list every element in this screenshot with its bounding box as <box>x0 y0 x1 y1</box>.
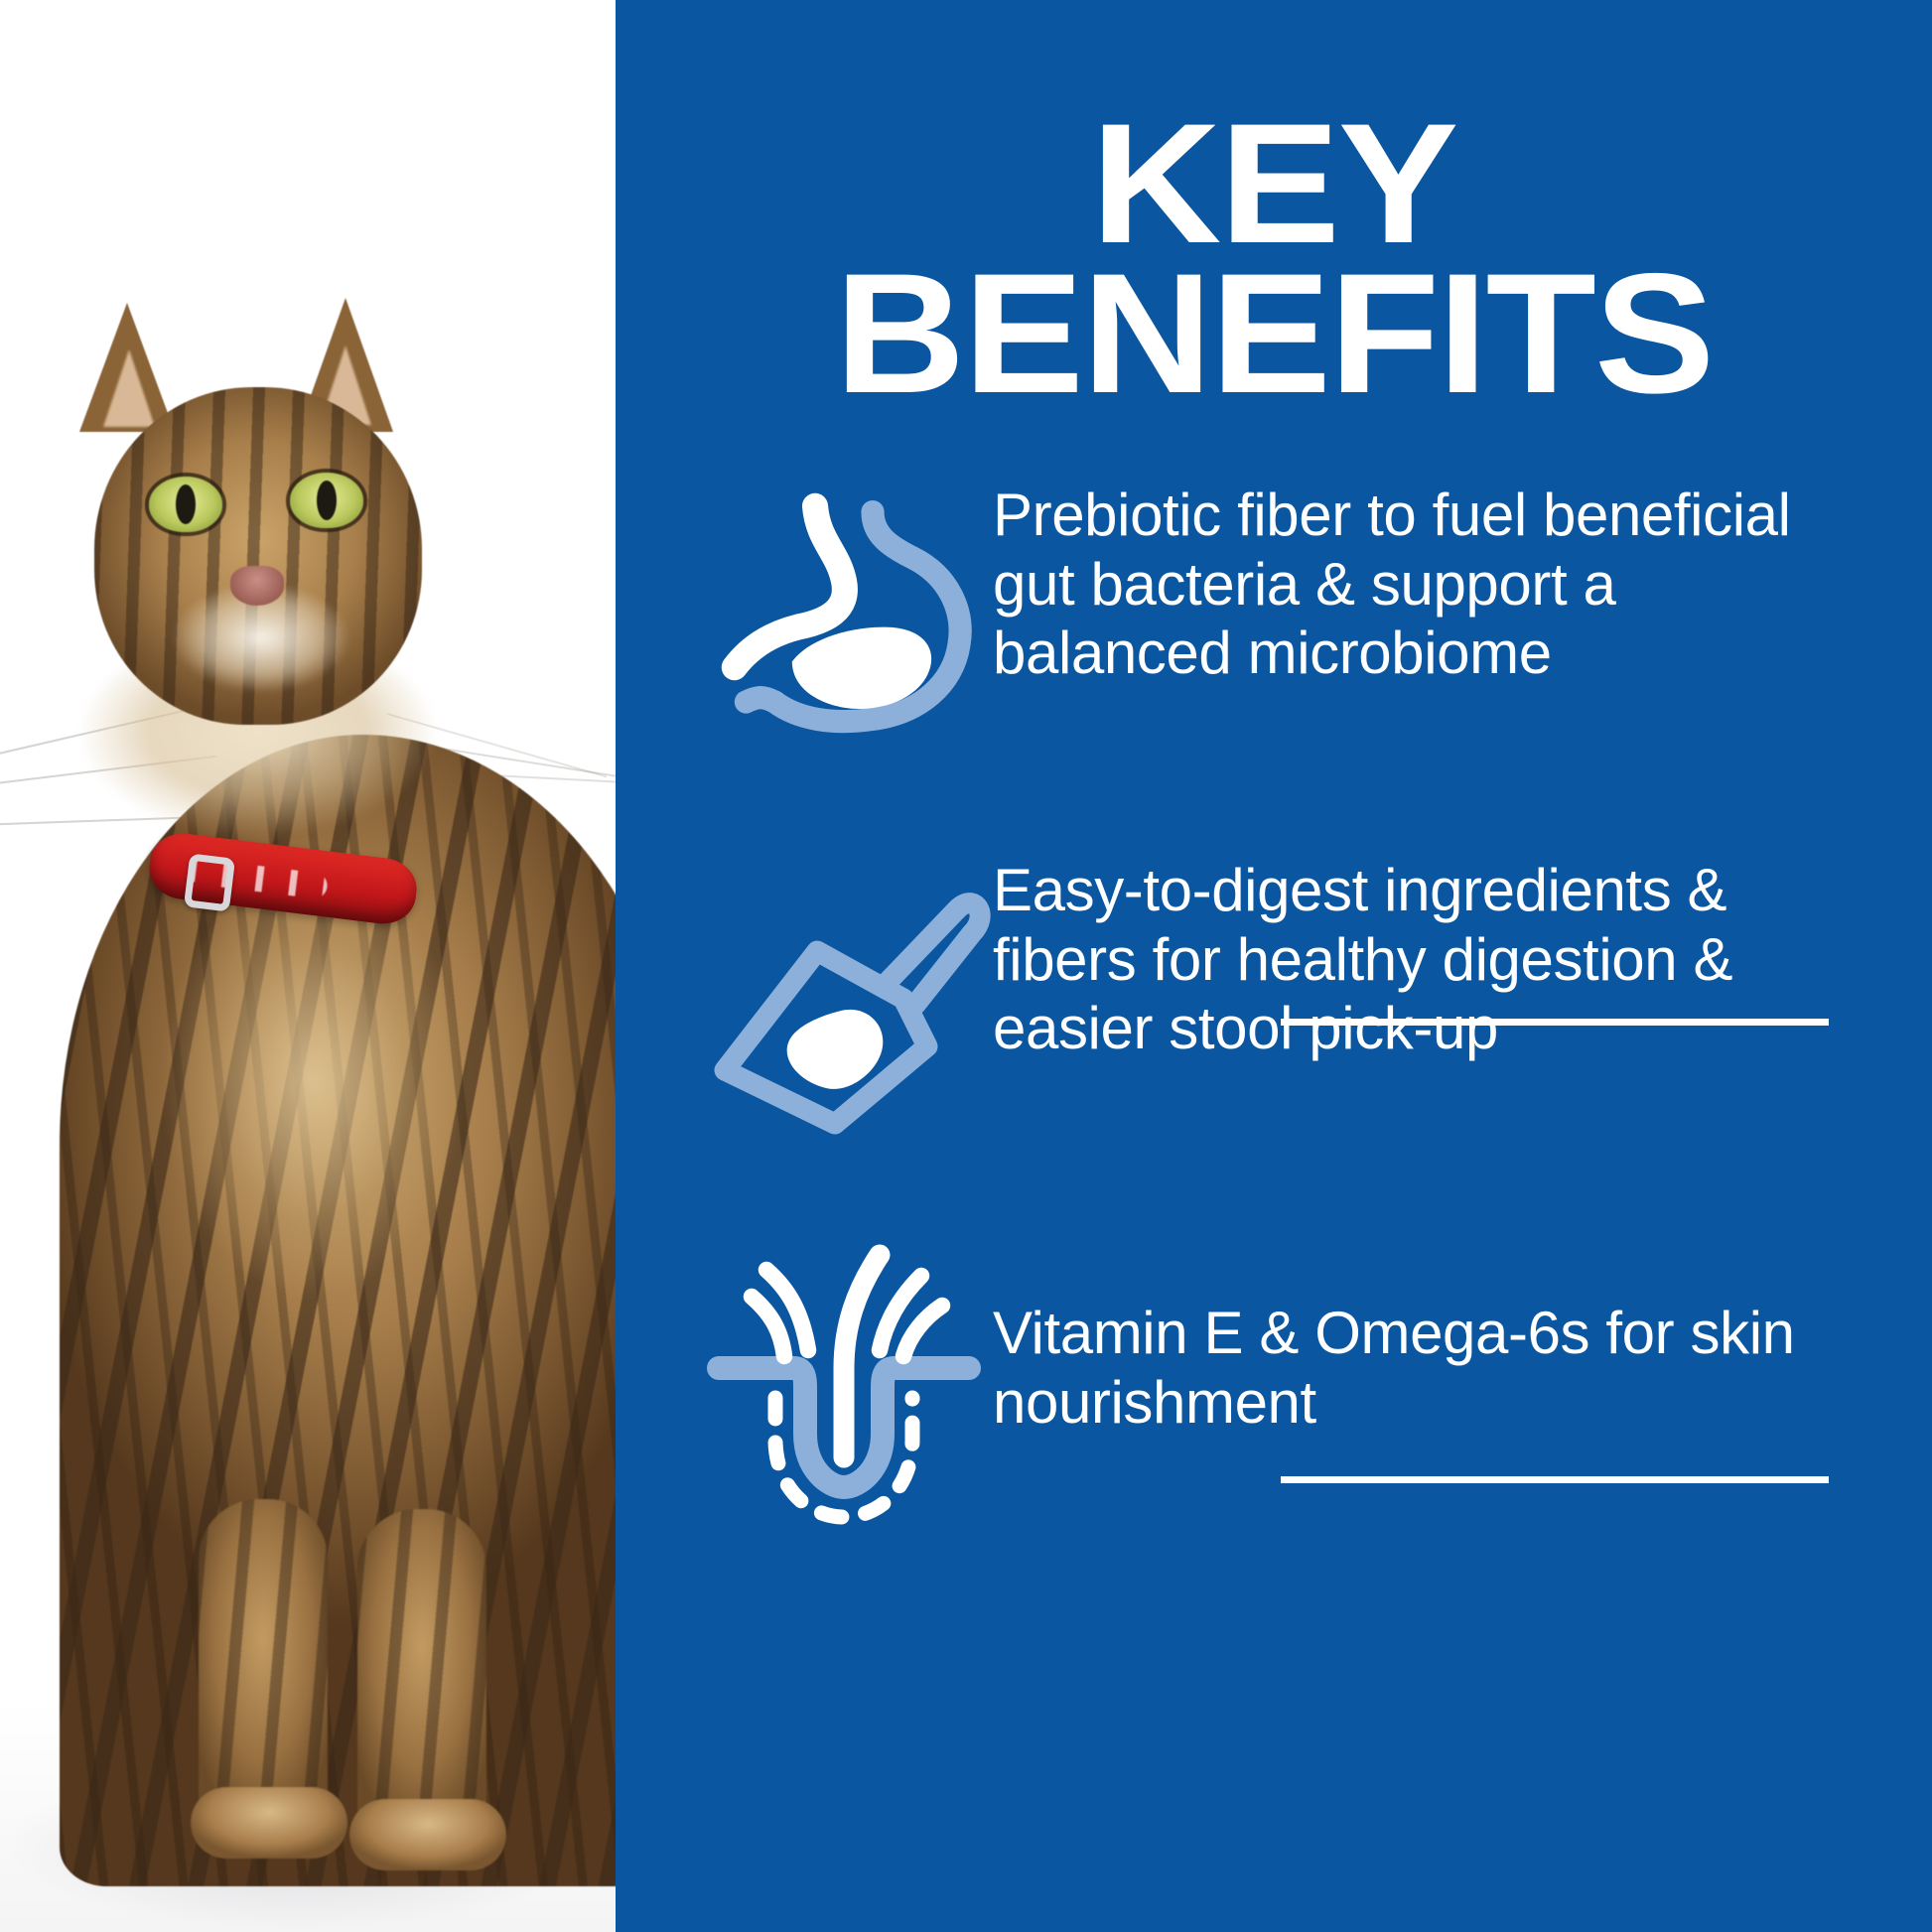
cat-ear-inner-left <box>103 349 155 427</box>
litter-scoop-icon <box>695 850 993 1148</box>
benefit-item-2: Easy-to-digest ingredients & fibers for … <box>616 850 1932 1148</box>
benefit-item-1: Prebiotic fiber to fuel beneficial gut b… <box>616 467 1932 764</box>
cat-nose <box>230 566 284 606</box>
stomach-icon <box>695 467 993 764</box>
key-benefits-banner: KEY BENEFITS Prebiotic fiber <box>0 0 1932 1932</box>
page-title-line-2: BENEFITS <box>576 259 1932 409</box>
cat-photo-panel <box>0 0 616 1932</box>
divider-1 <box>1281 1019 1829 1026</box>
cat-pupil <box>317 481 337 520</box>
cat-paw-right <box>349 1799 506 1870</box>
divider-2 <box>1281 1476 1829 1483</box>
cat-eye-right <box>290 473 363 528</box>
benefit-item-3: Vitamin E & Omega-6s for skin nourishmen… <box>616 1243 1932 1541</box>
benefit-text-2: Easy-to-digest ingredients & fibers for … <box>993 850 1838 1063</box>
benefits-panel: KEY BENEFITS Prebiotic fiber <box>616 0 1932 1932</box>
hair-follicle-icon <box>695 1243 993 1541</box>
cat-collar-buckle <box>184 853 235 911</box>
cat-eye-left <box>149 477 222 532</box>
cat-paw-left <box>191 1787 347 1859</box>
benefit-text-1: Prebiotic fiber to fuel beneficial gut b… <box>993 467 1838 688</box>
page-title: KEY BENEFITS <box>576 109 1932 410</box>
cat-photo <box>0 0 616 1932</box>
benefit-text-3: Vitamin E & Omega-6s for skin nourishmen… <box>993 1243 1838 1437</box>
benefits-list: Prebiotic fiber to fuel beneficial gut b… <box>616 467 1932 1541</box>
cat-chest <box>149 874 477 1390</box>
cat-pupil <box>176 484 196 524</box>
